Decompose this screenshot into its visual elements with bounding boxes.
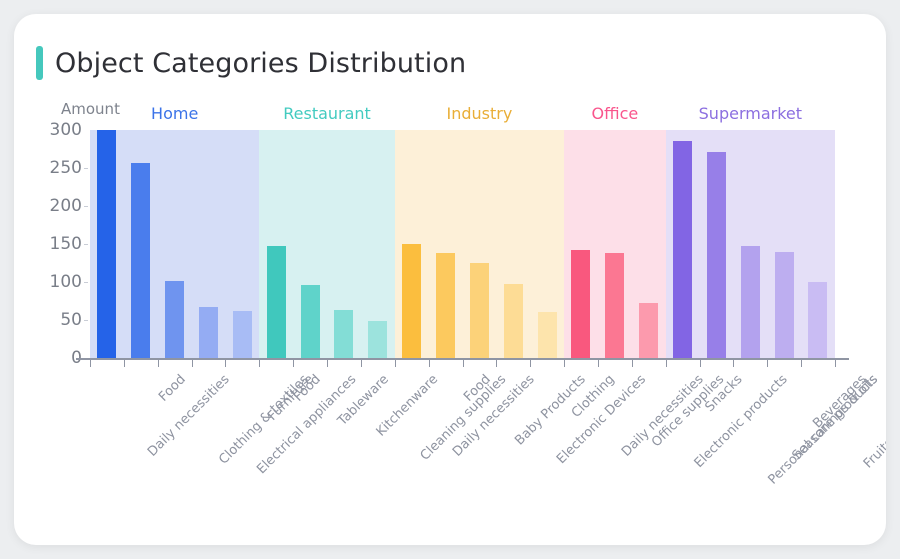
page-title: Object Categories Distribution bbox=[55, 48, 466, 79]
chart-card: Object Categories Distribution Amount 05… bbox=[14, 14, 886, 545]
bar[interactable] bbox=[775, 252, 794, 358]
bar-slot bbox=[90, 130, 124, 358]
bar-slot bbox=[124, 130, 158, 358]
bar[interactable] bbox=[368, 321, 387, 358]
bar[interactable] bbox=[233, 311, 252, 358]
y-tick-label: 100 bbox=[36, 272, 82, 292]
group-label-restaurant: Restaurant bbox=[283, 104, 371, 123]
x-tick bbox=[90, 360, 91, 367]
bar-slot bbox=[259, 130, 293, 358]
bar-slot bbox=[801, 130, 835, 358]
x-tick bbox=[259, 360, 260, 367]
bar[interactable] bbox=[741, 246, 760, 358]
bar-slot bbox=[666, 130, 700, 358]
bar-slot bbox=[293, 130, 327, 358]
x-tick bbox=[632, 360, 633, 367]
x-tick bbox=[395, 360, 396, 367]
bar[interactable] bbox=[267, 246, 286, 358]
bar-slot bbox=[733, 130, 767, 358]
y-grid-mark bbox=[84, 244, 88, 245]
x-tick bbox=[733, 360, 734, 367]
bar[interactable] bbox=[571, 250, 590, 358]
bar[interactable] bbox=[504, 284, 523, 358]
x-tick bbox=[767, 360, 768, 367]
bar[interactable] bbox=[334, 310, 353, 358]
x-tick bbox=[463, 360, 464, 367]
bar-slot bbox=[632, 130, 666, 358]
chart-header: Object Categories Distribution bbox=[36, 46, 466, 80]
bar-slot bbox=[564, 130, 598, 358]
y-grid-mark bbox=[84, 206, 88, 207]
x-tick bbox=[666, 360, 667, 367]
x-tick bbox=[327, 360, 328, 367]
bar-slot bbox=[530, 130, 564, 358]
bar[interactable] bbox=[538, 312, 557, 358]
bar[interactable] bbox=[165, 281, 184, 358]
bar-slot bbox=[192, 130, 226, 358]
bar-slot bbox=[429, 130, 463, 358]
y-grid-mark bbox=[84, 282, 88, 283]
x-tick-label: Seasonings & oils bbox=[790, 372, 882, 464]
x-tick bbox=[293, 360, 294, 367]
x-tick bbox=[124, 360, 125, 367]
y-tick-label: 250 bbox=[36, 158, 82, 178]
y-axis-title: Amount bbox=[61, 100, 120, 118]
x-tick bbox=[192, 360, 193, 367]
bar-slot bbox=[395, 130, 429, 358]
bar[interactable] bbox=[639, 303, 658, 358]
x-tick bbox=[835, 360, 836, 367]
accent-bar-icon bbox=[36, 46, 43, 80]
group-label-industry: Industry bbox=[447, 104, 513, 123]
group-label-home: Home bbox=[151, 104, 198, 123]
bar-slot bbox=[158, 130, 192, 358]
bar[interactable] bbox=[808, 282, 827, 358]
bar[interactable] bbox=[470, 263, 489, 358]
bar[interactable] bbox=[707, 152, 726, 358]
y-grid-mark bbox=[84, 168, 88, 169]
bar-slot bbox=[462, 130, 496, 358]
y-tick-label: 150 bbox=[36, 234, 82, 254]
bar[interactable] bbox=[436, 253, 455, 358]
group-label-office: Office bbox=[592, 104, 639, 123]
x-tick bbox=[429, 360, 430, 367]
y-tick-label: 300 bbox=[36, 120, 82, 140]
y-tick-label: 50 bbox=[36, 310, 82, 330]
x-tick bbox=[496, 360, 497, 367]
x-tick-label: Food bbox=[156, 372, 189, 405]
bar-slot bbox=[598, 130, 632, 358]
bar-slot bbox=[699, 130, 733, 358]
bar-slot bbox=[225, 130, 259, 358]
x-tick bbox=[225, 360, 226, 367]
bar-slot bbox=[767, 130, 801, 358]
bar[interactable] bbox=[97, 130, 116, 358]
x-tick bbox=[564, 360, 565, 367]
x-tick bbox=[801, 360, 802, 367]
x-tick bbox=[158, 360, 159, 367]
bar[interactable] bbox=[673, 141, 692, 358]
bar-series bbox=[90, 130, 835, 358]
x-tick-label: Daily necessities bbox=[145, 372, 233, 460]
bar[interactable] bbox=[605, 253, 624, 358]
bar[interactable] bbox=[131, 163, 150, 358]
x-tick bbox=[598, 360, 599, 367]
x-tick bbox=[700, 360, 701, 367]
x-tick bbox=[530, 360, 531, 367]
bar-slot bbox=[496, 130, 530, 358]
bar-slot bbox=[327, 130, 361, 358]
bar[interactable] bbox=[301, 285, 320, 358]
y-tick-label: 200 bbox=[36, 196, 82, 216]
y-grid-mark bbox=[84, 320, 88, 321]
bar[interactable] bbox=[199, 307, 218, 358]
bar-slot bbox=[361, 130, 395, 358]
group-label-supermarket: Supermarket bbox=[699, 104, 802, 123]
plot-area: HomeRestaurantIndustryOfficeSupermarket bbox=[90, 130, 835, 358]
bar[interactable] bbox=[402, 244, 421, 358]
x-tick bbox=[361, 360, 362, 367]
